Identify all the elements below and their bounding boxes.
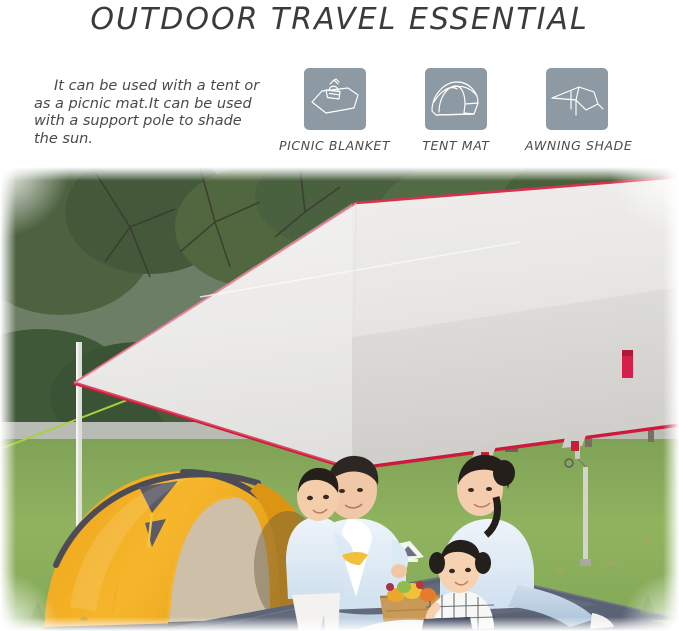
feature-label-awning-shade: AWNING SHADE: [525, 138, 629, 153]
feature-item-awning-shade: AWNING SHADE: [525, 68, 629, 153]
page-title: OUTDOOR TRAVEL ESSENTIAL: [0, 2, 679, 37]
tent-mat-tile: [425, 68, 487, 130]
feature-item-picnic-blanket: PICNIC BLANKET: [283, 68, 387, 153]
tent-icon: [425, 68, 487, 130]
awning-shade-tile: [546, 68, 608, 130]
pigtail-right: [475, 552, 491, 574]
lifestyle-photo-scene: [0, 167, 679, 631]
product-description: It can be used with a tent or as a picni…: [34, 78, 266, 148]
feature-list: PICNIC BLANKET: [283, 68, 643, 158]
product-infographic: OUTDOOR TRAVEL ESSENTIAL It can be used …: [0, 0, 679, 631]
lifestyle-photo: [0, 167, 679, 631]
picnic-blanket-icon: [304, 68, 366, 130]
picnic-blanket-tile: [304, 68, 366, 130]
awning-shade-icon: [546, 68, 608, 130]
feature-label-tent-mat: TENT MAT: [404, 138, 508, 153]
feature-label-picnic-blanket: PICNIC BLANKET: [279, 138, 387, 153]
pigtail-left: [429, 552, 445, 574]
feature-item-tent-mat: TENT MAT: [404, 68, 508, 153]
